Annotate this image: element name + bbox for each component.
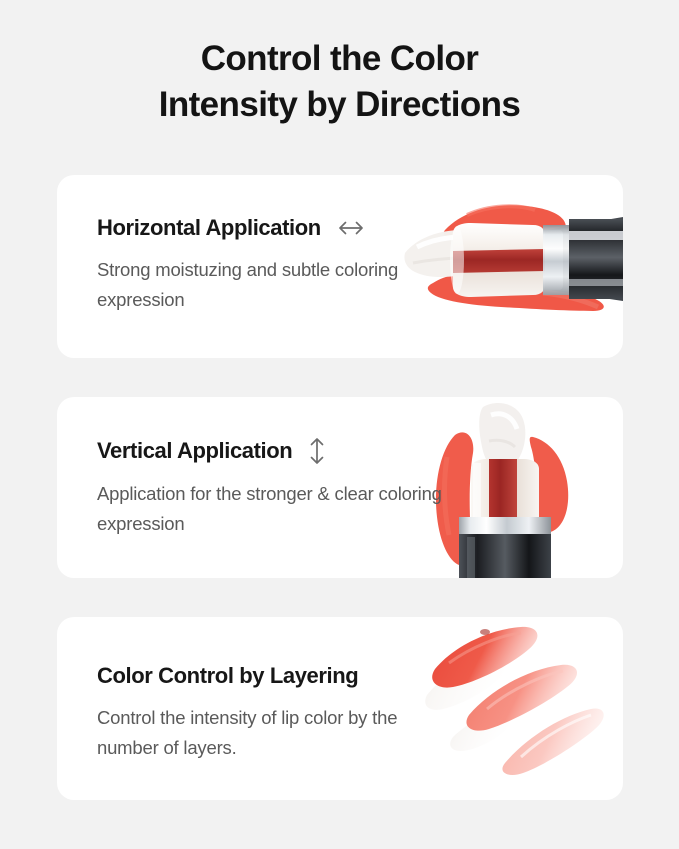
- card-text-block: Vertical Application Application for the…: [57, 397, 447, 539]
- feature-card-list: Horizontal Application Strong moistuzing…: [57, 175, 623, 800]
- card-description: Control the intensity of lip color by th…: [97, 703, 447, 763]
- page-title-line-2: Intensity by Directions: [60, 82, 619, 128]
- feature-card-horizontal-application[interactable]: Horizontal Application Strong moistuzing…: [57, 175, 623, 358]
- page-title-line-1: Control the Color: [60, 36, 619, 82]
- card-text-block: Horizontal Application Strong moistuzing…: [57, 175, 447, 315]
- card-title-row: Color Control by Layering: [97, 663, 447, 689]
- card-text-block: Color Control by Layering Control the in…: [57, 617, 447, 763]
- card-title-row: Vertical Application: [97, 437, 447, 465]
- card-title: Color Control by Layering: [97, 663, 358, 689]
- card-description: Application for the stronger & clear col…: [97, 479, 447, 539]
- feature-card-color-control-by-layering[interactable]: Color Control by Layering Control the in…: [57, 617, 623, 800]
- up-down-arrow-icon: [309, 437, 325, 465]
- card-title: Vertical Application: [97, 438, 292, 464]
- card-description: Strong moistuzing and subtle coloring ex…: [97, 255, 447, 315]
- card-title: Horizontal Application: [97, 215, 321, 241]
- feature-card-vertical-application[interactable]: Vertical Application Application for the…: [57, 397, 623, 578]
- left-right-arrow-icon: [338, 220, 364, 236]
- page-title: Control the Color Intensity by Direction…: [0, 0, 679, 128]
- card-title-row: Horizontal Application: [97, 215, 447, 241]
